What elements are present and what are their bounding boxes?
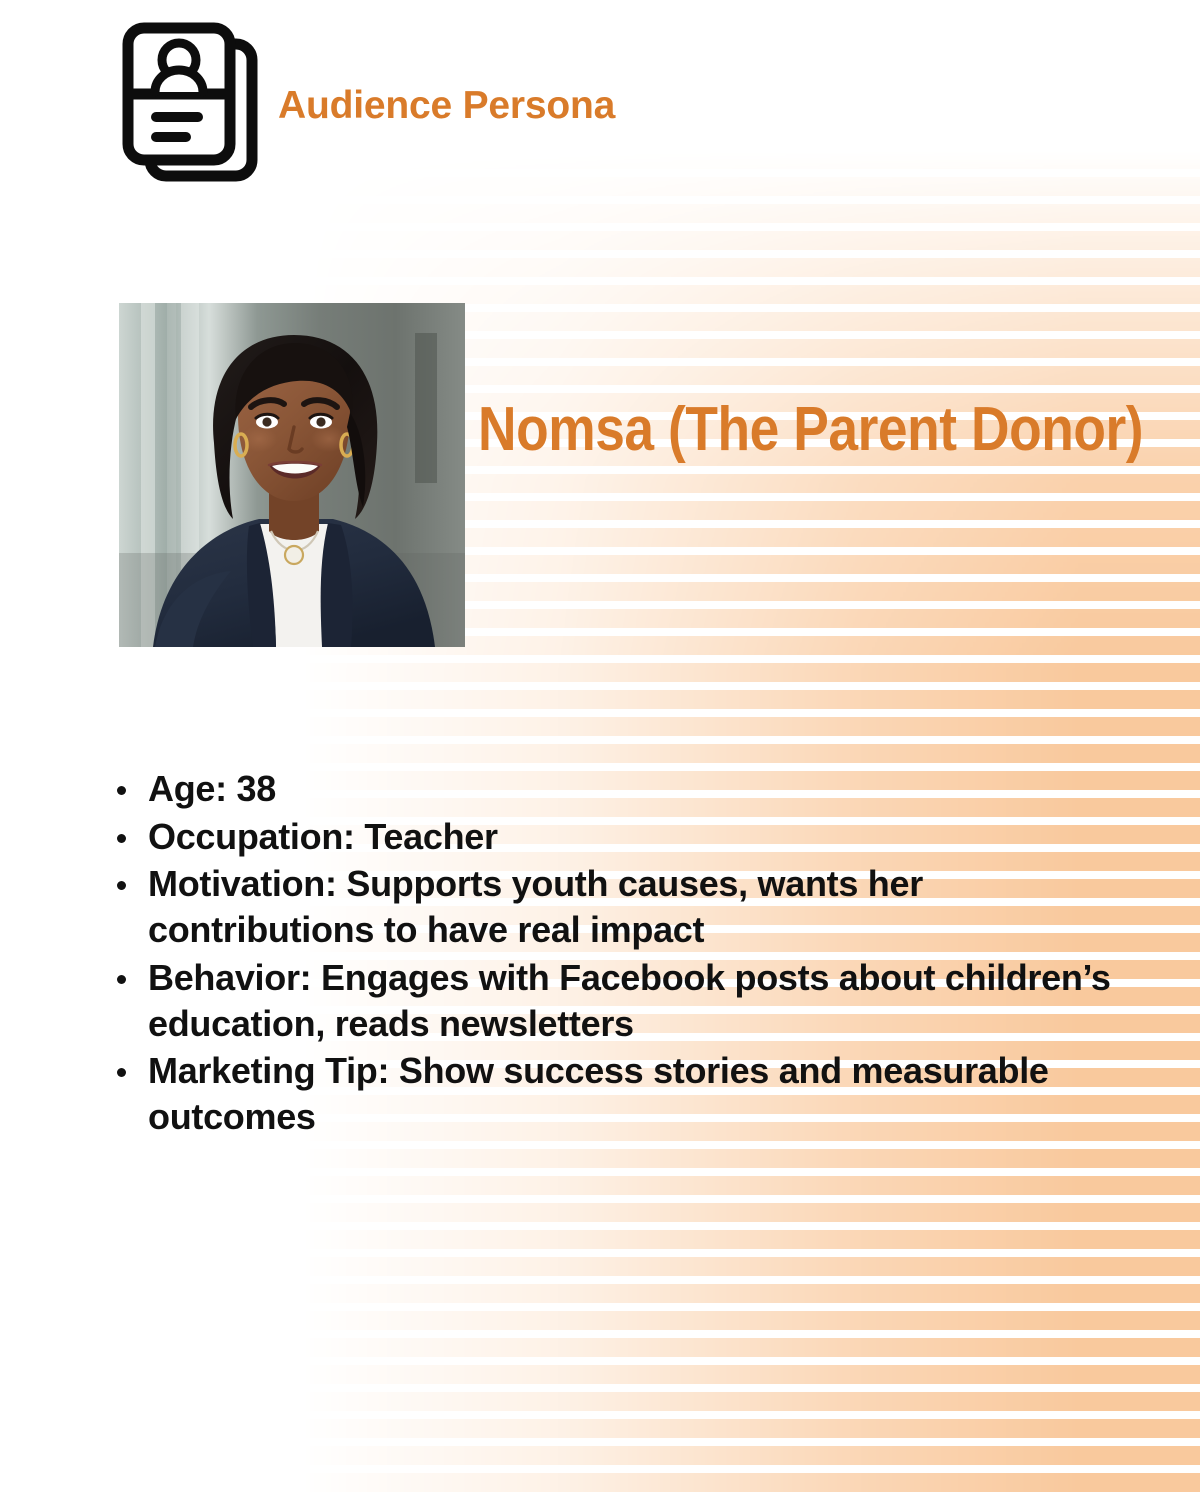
list-item: Behavior: Engages with Facebook posts ab… (108, 955, 1118, 1046)
list-item: Age: 38 (108, 766, 1118, 812)
list-item: Occupation: Teacher (108, 814, 1118, 860)
portrait-illustration (119, 303, 465, 647)
persona-attributes-list: Age: 38 Occupation: Teacher Motivation: … (108, 766, 1118, 1142)
page-title: Audience Persona (278, 86, 615, 125)
slide-header: Audience Persona (122, 22, 615, 184)
audience-persona-slide: Audience Persona (0, 0, 1200, 1500)
persona-name: Nomsa (The Parent Donor) (478, 398, 1080, 461)
persona-portrait-photo (119, 303, 465, 647)
list-item: Marketing Tip: Show success stories and … (108, 1048, 1118, 1139)
list-item: Motivation: Supports youth causes, wants… (108, 861, 1118, 952)
id-card-persona-icon (122, 22, 270, 184)
